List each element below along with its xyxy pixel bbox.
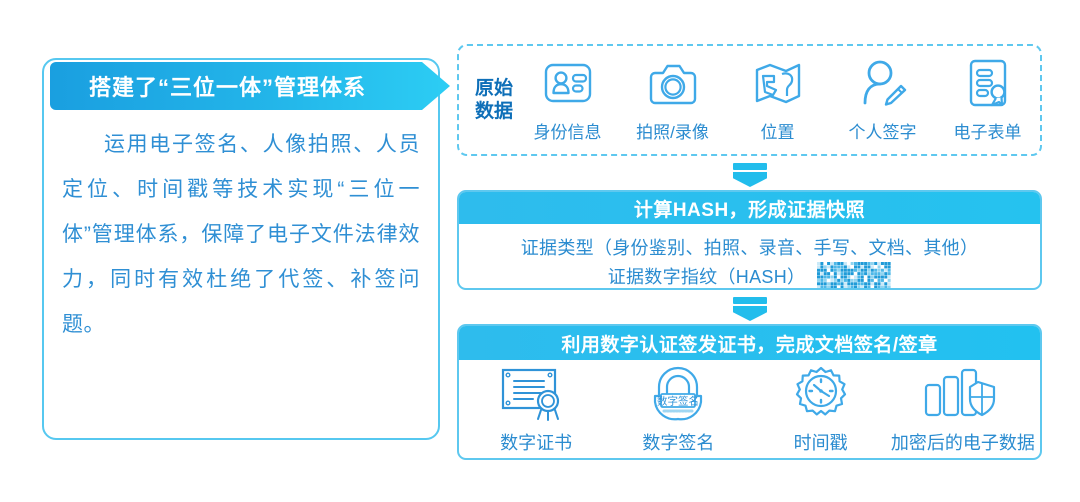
connector-triangle [733, 306, 767, 321]
infographic-canvas: 搭建了“三位一体”管理体系 运用电子签名、人像拍照、人员定位、时间戳等技术实现“… [0, 0, 1080, 502]
hash-fingerprint-line: 证据数字指纹（HASH） [459, 261, 1040, 290]
left-panel-title: 搭建了“三位一体”管理体系 [50, 62, 405, 110]
connector-bar [733, 297, 767, 304]
signature-item-label: 加密后的电子数据 [891, 429, 1035, 455]
raw-data-item-label: 身份信息 [534, 118, 602, 143]
map-location-icon [752, 57, 804, 109]
encrypted-data-shield-icon [922, 366, 1004, 422]
raw-data-item[interactable]: 个人签字 [832, 57, 934, 143]
lock-signature-icon: 数字签名 [647, 366, 709, 422]
raw-data-item-label: 个人签字 [849, 118, 917, 143]
flow-connector-arrow [733, 163, 767, 187]
certificate-icon [499, 366, 573, 422]
left-panel-body-text: 运用电子签名、人像拍照、人员定位、时间戳等技术实现“三位一体”管理体系，保障了电… [62, 122, 420, 347]
signature-section-title: 利用数字认证签发证书，完成文档签名/签章 [459, 326, 1040, 360]
electronic-form-icon [963, 57, 1013, 109]
signature-item-label: 时间戳 [794, 429, 848, 455]
raw-data-item-label: 电子表单 [954, 118, 1022, 143]
hash-section-title: 计算HASH，形成证据快照 [459, 192, 1040, 224]
lock-badge-text: 数字签名 [657, 394, 699, 407]
person-signature-icon [857, 57, 909, 109]
connector-triangle [733, 172, 767, 187]
raw-data-item-list: 身份信息 拍照/录像 [515, 46, 1040, 154]
signature-item[interactable]: 加密后的电子数据 [898, 366, 1028, 455]
signature-item-list: 数字证书 数字签名 数字签名 [459, 360, 1040, 460]
hash-fingerprint-label: 证据数字指纹（HASH） [608, 263, 806, 289]
signature-item-label: 数字证书 [500, 429, 572, 455]
raw-data-item-label: 位置 [761, 118, 795, 143]
camera-icon [646, 57, 700, 109]
raw-data-item[interactable]: 位置 [727, 57, 829, 143]
id-card-icon [542, 57, 594, 109]
flow-connector-arrow [733, 297, 767, 321]
raw-data-section: 原始数据 身份信息 [457, 44, 1042, 156]
hash-evidence-type-line: 证据类型（身份鉴别、拍照、录音、手写、文档、其他） [459, 232, 1040, 261]
hash-mosaic-icon [817, 262, 891, 289]
signature-item-label: 数字签名 [642, 429, 714, 455]
hash-section: 计算HASH，形成证据快照 证据类型（身份鉴别、拍照、录音、手写、文档、其他） … [457, 190, 1042, 290]
hash-section-body: 证据类型（身份鉴别、拍照、录音、手写、文档、其他） 证据数字指纹（HASH） [459, 224, 1040, 290]
signature-section: 利用数字认证签发证书，完成文档签名/签章 数 [457, 324, 1042, 460]
raw-data-label: 原始数据 [473, 77, 515, 123]
signature-item[interactable]: 时间戳 [756, 366, 886, 455]
connector-bar [733, 163, 767, 170]
raw-data-item[interactable]: 拍照/录像 [622, 57, 724, 143]
raw-data-item[interactable]: 身份信息 [517, 57, 619, 143]
signature-item[interactable]: 数字签名 数字签名 [613, 366, 743, 455]
gear-clock-icon [792, 366, 850, 422]
raw-data-item[interactable]: 电子表单 [937, 57, 1039, 143]
raw-data-item-label: 拍照/录像 [636, 118, 709, 143]
left-panel-header: 搭建了“三位一体”管理体系 [50, 62, 450, 110]
signature-item[interactable]: 数字证书 [471, 366, 601, 455]
